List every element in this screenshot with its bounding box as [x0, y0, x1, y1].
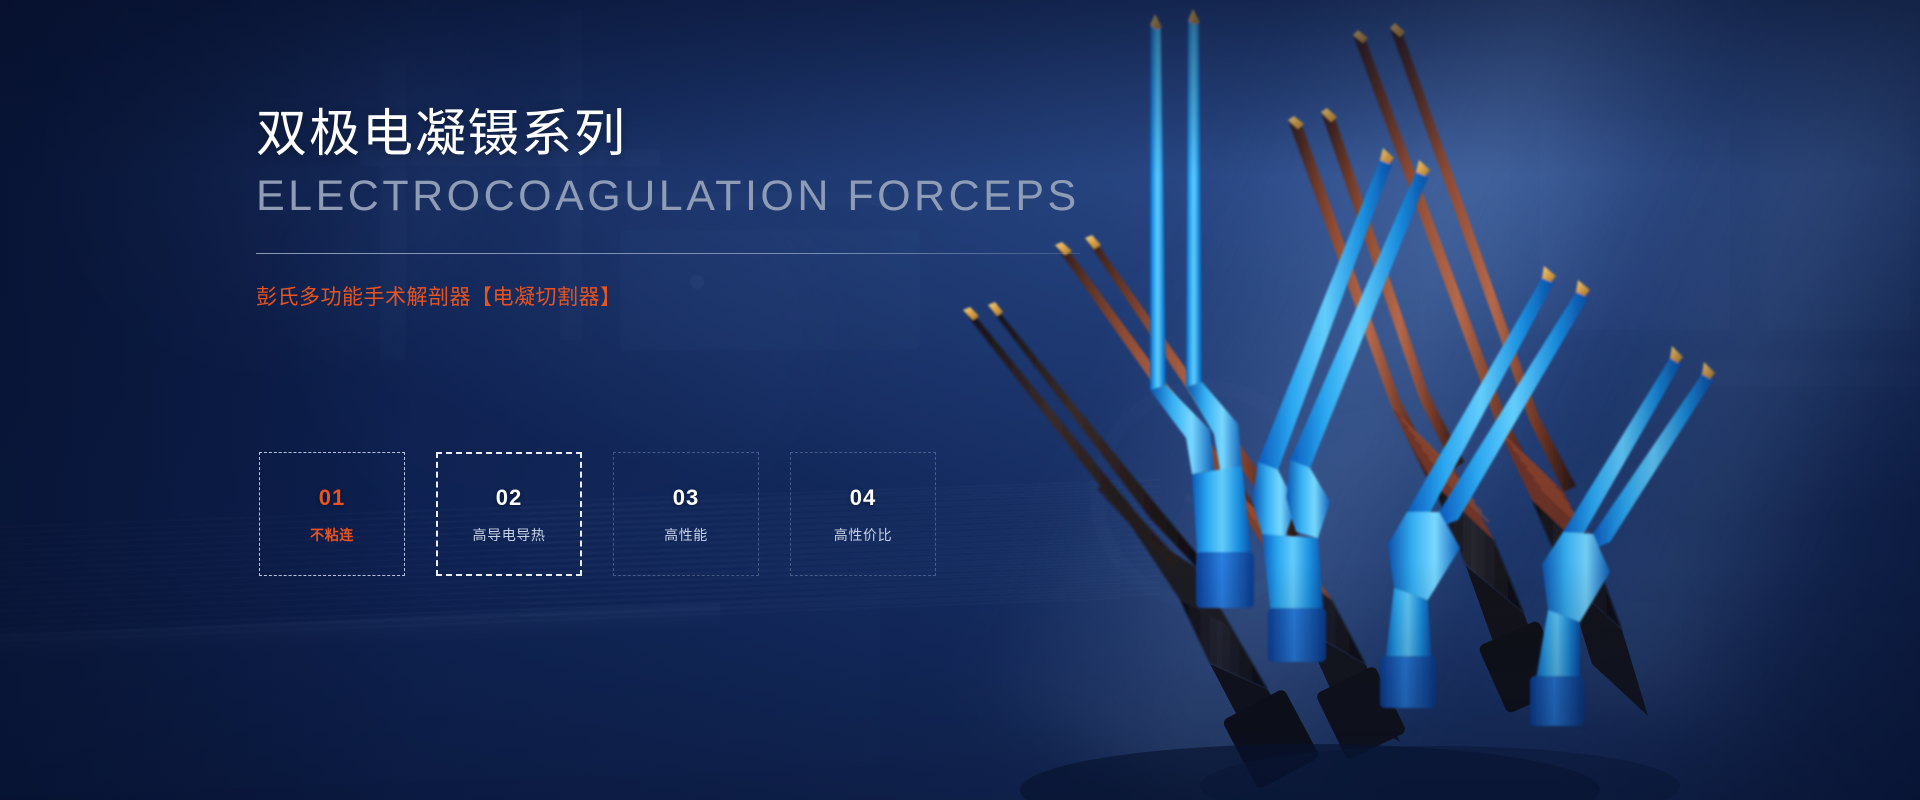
feature-label: 高性价比 — [834, 528, 892, 542]
feature-list: 01 不粘连 02 高导电导热 03 高性能 04 高性价比 — [259, 452, 936, 576]
feature-item-02[interactable]: 02 高导电导热 — [436, 452, 582, 576]
feature-number: 03 — [673, 487, 699, 509]
feature-label: 高性能 — [664, 528, 708, 542]
feature-item-04[interactable]: 04 高性价比 — [790, 452, 936, 576]
product-banner: 双极电凝镊系列 ELECTROCOAGULATION FORCEPS 彭氏多功能… — [0, 0, 1920, 800]
feature-number: 02 — [496, 487, 522, 509]
feature-item-03[interactable]: 03 高性能 — [613, 452, 759, 576]
feature-label: 不粘连 — [310, 528, 354, 542]
product-tagline: 彭氏多功能手术解剖器【电凝切割器】 — [256, 285, 1156, 310]
page-subtitle-en: ELECTROCOAGULATION FORCEPS — [256, 175, 1156, 218]
feature-number: 04 — [850, 487, 876, 509]
title-divider — [256, 253, 1080, 254]
feature-number: 01 — [319, 487, 345, 509]
feature-label: 高导电导热 — [473, 528, 546, 542]
banner-copy: 双极电凝镊系列 ELECTROCOAGULATION FORCEPS 彭氏多功能… — [256, 108, 1156, 310]
feature-item-01[interactable]: 01 不粘连 — [259, 452, 405, 576]
page-title: 双极电凝镊系列 — [256, 108, 1156, 159]
